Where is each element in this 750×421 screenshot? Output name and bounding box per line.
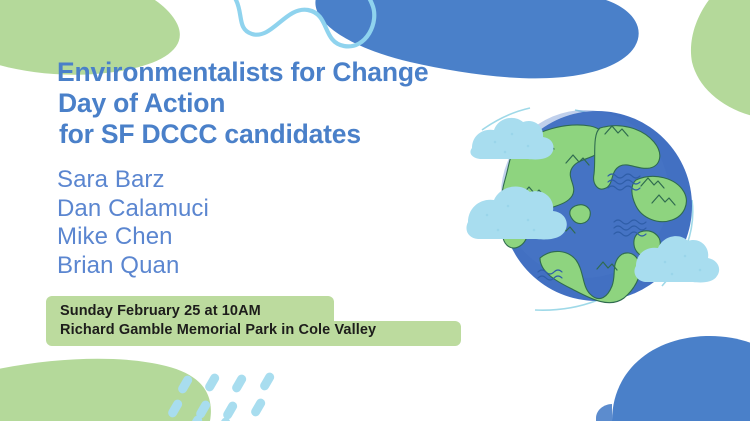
headline-line-2: Day of Action: [57, 88, 527, 119]
candidate-list: Sara Barz Dan Calamuci Mike Chen Brian Q…: [57, 166, 387, 280]
event-details-banner: Sunday February 25 at 10AM Richard Gambl…: [46, 296, 461, 346]
candidate-name: Dan Calamuci: [57, 195, 387, 224]
candidate-name: Brian Quan: [57, 252, 387, 281]
event-location: Richard Gamble Memorial Park in Cole Val…: [46, 321, 461, 346]
sponsor-logo-strip: SIERRA CLUB SAN FRANCISCO BAY: [0, 355, 750, 421]
event-datetime: Sunday February 25 at 10AM: [46, 296, 334, 321]
page-title: Environmentalists for Change Day of Acti…: [57, 57, 527, 150]
event-flyer: Environmentalists for Change Day of Acti…: [0, 0, 750, 421]
candidate-name: Mike Chen: [57, 223, 387, 252]
headline-line-3: for SF DCCC candidates: [57, 119, 527, 150]
headline-line-1: Environmentalists for Change: [57, 57, 527, 88]
candidate-name: Sara Barz: [57, 166, 387, 195]
